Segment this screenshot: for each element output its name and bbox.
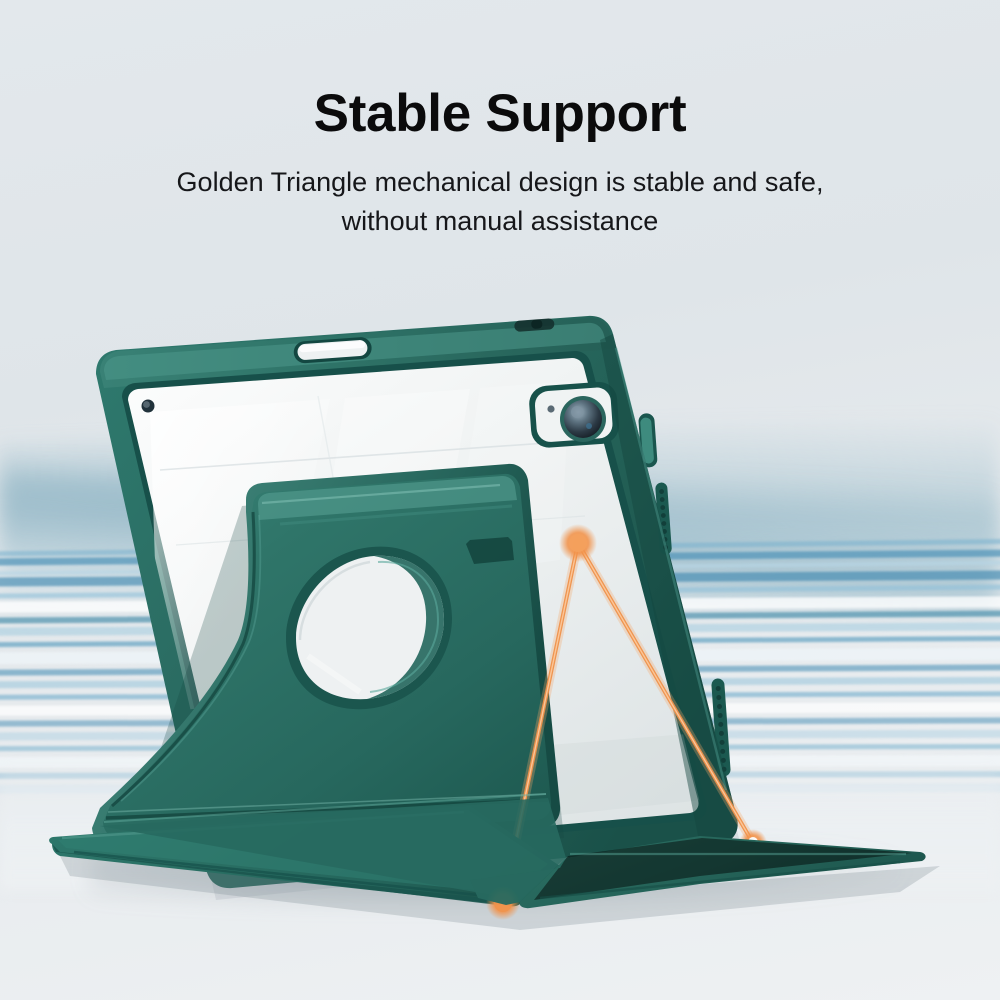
stand-notch-right	[466, 537, 514, 564]
camera-flash	[547, 405, 554, 412]
product-marketing-image: Stable Support Golden Triangle mechanica…	[0, 0, 1000, 1000]
rotating-tablet-case	[0, 0, 1000, 1000]
camera-cutout	[528, 381, 620, 449]
camera-lens	[564, 400, 602, 438]
microphone-hole	[142, 400, 155, 413]
